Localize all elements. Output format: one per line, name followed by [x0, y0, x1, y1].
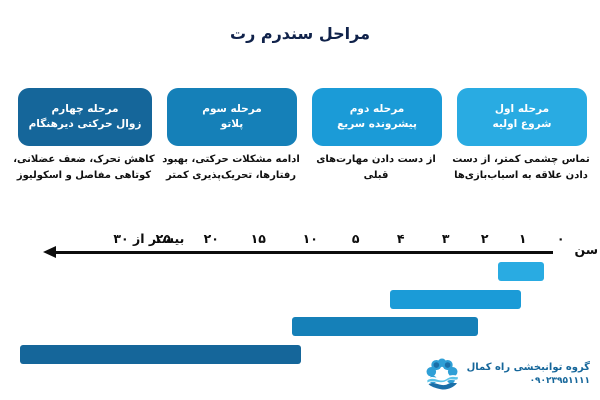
stage-4-name-line1: مرحله چهارم: [51, 102, 118, 117]
timeline-bar-stage-1: [498, 262, 544, 281]
stage-4-description: کاهش تحرک، ضعف عضلانی، کوتاهی مفاصل و اس…: [10, 152, 158, 183]
axis-tick-15: ۱۵: [251, 231, 266, 246]
stage-3-description: ادامه مشکلات حرکتی، بهبود رفتارها، تحریک…: [158, 152, 304, 183]
page-title: مراحل سندرم رت: [0, 24, 600, 43]
axis-arrow-icon: [43, 246, 56, 258]
stage-3-name-line1: مرحله سوم: [202, 102, 262, 117]
axis-tick-4: ۴: [397, 231, 405, 246]
stage-4-name-line2: زوال حرکتی دیرهنگام: [29, 117, 142, 132]
timeline-bar-stage-4: [20, 345, 301, 364]
brand-name: گروه توانبخشی راه کمال: [467, 361, 590, 375]
axis-tick-1: ۱: [519, 231, 527, 246]
stage-box-4[interactable]: مرحله چهارم زوال حرکتی دیرهنگام: [18, 88, 152, 146]
stage-3-name-line2: پلاتو: [221, 117, 243, 132]
stage-1-name-line2: شروع اولیه: [493, 117, 552, 132]
axis-line: [55, 251, 553, 254]
timeline-bar-stage-2: [390, 290, 521, 309]
axis-tick-5: ۵: [352, 231, 360, 246]
axis-label-age: سن: [574, 242, 598, 257]
timeline-bar-stage-3: [292, 317, 478, 336]
axis-tick-3: ۳: [442, 231, 450, 246]
axis-tick-30-plus: بیشتر از ۳۰: [113, 231, 184, 246]
stage-1-name-line1: مرحله اول: [495, 102, 549, 117]
stage-2-name-line1: مرحله دوم: [350, 102, 405, 117]
footer-text-block: گروه توانبخشی راه کمال ۰۹۰۲۳۹۵۱۱۱۱: [467, 361, 590, 388]
brand-phone: ۰۹۰۲۳۹۵۱۱۱۱: [467, 375, 590, 388]
brain-wave-logo-icon: [424, 356, 460, 392]
footer-brand: گروه توانبخشی راه کمال ۰۹۰۲۳۹۵۱۱۱۱: [424, 356, 590, 392]
axis-tick-2: ۲: [481, 231, 489, 246]
age-axis: سن ۰ ۱ ۲ ۳ ۴ ۵ ۱۰ ۱۵ ۲۰ ۲۵ بیشتر از ۳۰: [0, 232, 600, 262]
axis-tick-10: ۱۰: [303, 231, 318, 246]
stage-1-description: تماس چشمی کمتر، از دست دادن علاقه به اسب…: [450, 152, 592, 183]
stage-box-1[interactable]: مرحله اول شروع اولیه: [457, 88, 587, 146]
axis-tick-0: ۰: [557, 231, 565, 246]
stage-box-2[interactable]: مرحله دوم پیشرونده سریع: [312, 88, 442, 146]
stage-2-name-line2: پیشرونده سریع: [337, 117, 417, 132]
axis-tick-20: ۲۰: [204, 231, 219, 246]
stage-box-3[interactable]: مرحله سوم پلاتو: [167, 88, 297, 146]
stage-2-description: از دست دادن مهارت‌های قبلی: [305, 152, 447, 183]
